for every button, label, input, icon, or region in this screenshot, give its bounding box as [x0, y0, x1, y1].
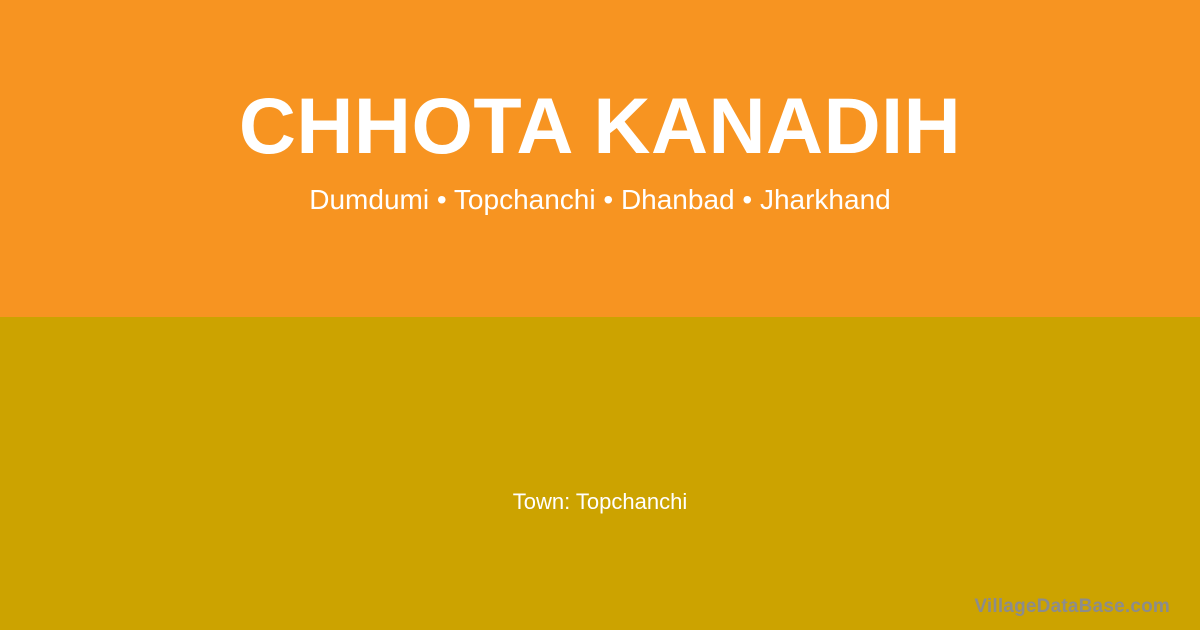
header-band: CHHOTA KANADIH Dumdumi • Topchanchi • Dh… — [0, 0, 1200, 317]
village-info-card: CHHOTA KANADIH Dumdumi • Topchanchi • Dh… — [0, 0, 1200, 630]
site-watermark: VillageDataBase.com — [974, 596, 1170, 618]
breadcrumb: Dumdumi • Topchanchi • Dhanbad • Jharkha… — [0, 183, 1200, 217]
town-detail-line: Town: Topchanchi — [0, 488, 1200, 516]
body-band: Town: Topchanchi — [0, 317, 1200, 630]
page-title: CHHOTA KANADIH — [0, 78, 1200, 174]
